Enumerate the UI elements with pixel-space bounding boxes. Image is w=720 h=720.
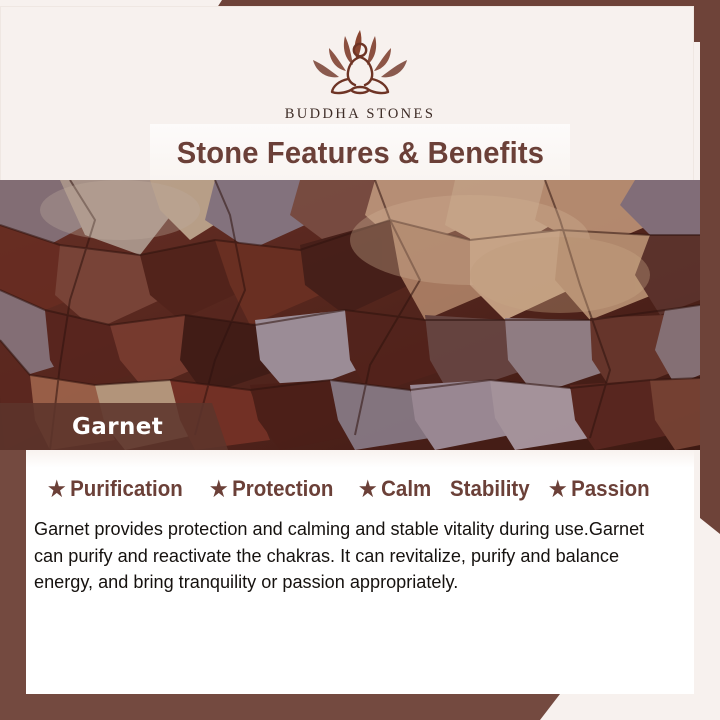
page-title: Stone Features & Benefits	[176, 135, 543, 171]
benefit-label: Protection	[232, 476, 333, 502]
star-icon: ★	[210, 479, 228, 500]
benefit-label: Calm	[382, 476, 432, 502]
stone-label-banner: Garnet	[0, 403, 228, 450]
benefit-item-calm: ★ Calm	[359, 476, 431, 502]
panel-top-fade	[26, 450, 694, 468]
stone-features-infographic: BUDDHA STONES Stone Features & Benefits	[0, 0, 720, 720]
benefit-label: Stability	[450, 476, 530, 502]
brand-name: BUDDHA STONES	[285, 106, 436, 123]
star-icon: ★	[48, 479, 66, 500]
page-title-panel: Stone Features & Benefits	[150, 124, 570, 181]
stone-description: Garnet provides protection and calming a…	[34, 516, 670, 596]
content-panel: ★ Purification ★ Protection ★ Calm Stabi…	[26, 450, 694, 694]
benefits-list: ★ Purification ★ Protection ★ Calm Stabi…	[48, 476, 684, 502]
frame-left-accent	[0, 448, 26, 720]
lotus-meditation-icon	[285, 24, 435, 102]
frame-bottom-accent	[0, 694, 560, 720]
stone-label: Garnet	[72, 414, 163, 440]
benefit-item-purification: ★ Purification	[48, 476, 183, 502]
benefit-item-protection: ★ Protection	[210, 476, 333, 502]
benefit-item-stability: Stability	[450, 476, 530, 502]
star-icon: ★	[359, 479, 377, 500]
star-icon: ★	[549, 479, 567, 500]
benefit-label: Purification	[70, 476, 183, 502]
benefit-label: Passion	[571, 476, 649, 502]
benefit-item-passion: ★ Passion	[549, 476, 650, 502]
brand-logo: BUDDHA STONES	[0, 24, 720, 123]
